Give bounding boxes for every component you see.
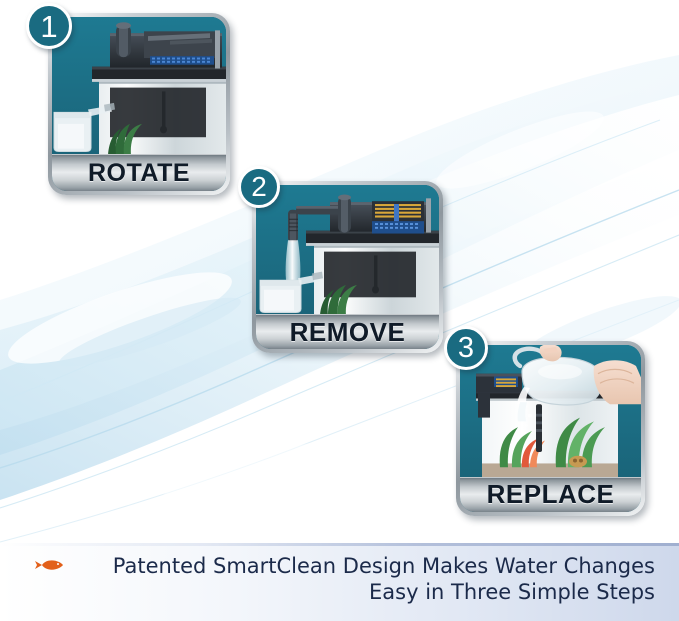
tagline-divider — [0, 543, 679, 546]
tagline-row: Patented SmartClean Design Makes Water C… — [0, 553, 655, 605]
infographic-stage: ROTATE 1 — [0, 0, 679, 621]
step-3-label: REPLACE — [487, 479, 615, 510]
step-badge-1-number: 1 — [40, 11, 57, 42]
step-badge-1[interactable]: 1 — [26, 3, 72, 49]
step-3-inner: REPLACE — [460, 345, 641, 512]
step-badge-2-number: 2 — [251, 173, 267, 201]
step-1-caption-bar: ROTATE — [52, 154, 226, 191]
tagline-text: Patented SmartClean Design Makes Water C… — [113, 553, 655, 605]
step-panel-3[interactable]: REPLACE — [456, 341, 645, 516]
tagline-line-2: Easy in Three Simple Steps — [113, 579, 655, 605]
step-2-caption-bar: REMOVE — [256, 314, 439, 349]
aquarium-filter-remove-scene — [256, 185, 439, 315]
step-badge-3[interactable]: 3 — [444, 326, 488, 370]
step-badge-2[interactable]: 2 — [238, 166, 280, 208]
step-panel-2[interactable]: REMOVE — [252, 181, 443, 353]
aquarium-pour-replace-scene — [460, 345, 641, 478]
step-1-inner: ROTATE — [52, 17, 226, 191]
step-1-label: ROTATE — [88, 159, 190, 188]
step-2-inner: REMOVE — [256, 185, 439, 349]
aquarium-filter-rotate-scene — [52, 17, 226, 155]
tagline-band: Patented SmartClean Design Makes Water C… — [0, 543, 679, 621]
step-3-caption-bar: REPLACE — [460, 477, 641, 512]
tagline-line-1: Patented SmartClean Design Makes Water C… — [113, 554, 655, 578]
step-badge-3-number: 3 — [458, 334, 474, 363]
step-2-label: REMOVE — [290, 317, 406, 348]
step-panel-1[interactable]: ROTATE — [48, 13, 230, 195]
